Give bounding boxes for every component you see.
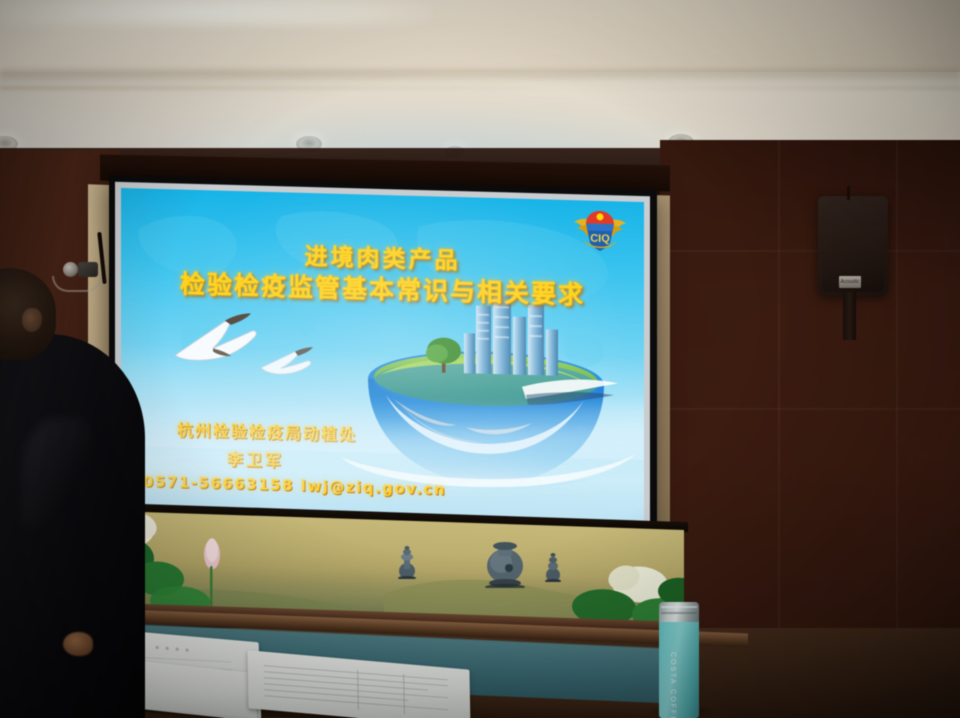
wall-panel-seam — [660, 250, 960, 252]
slide-footer-presenter: 李卫军 — [143, 444, 446, 476]
projection-screen-frame: CIQ 进境肉类产品 检验检疫监管基本常识与相关要求 — [109, 176, 657, 557]
speaker-brand-badge: Acoustic — [839, 276, 861, 288]
decorative-vase — [545, 552, 561, 582]
thermos-flask[interactable]: COSTA COFFEE — [659, 612, 699, 718]
audience-member — [0, 268, 130, 718]
speaker-mount-bracket — [843, 292, 856, 340]
thermos-brand-label: COSTA COFFEE — [669, 652, 676, 718]
ceiling-light-glow — [0, 0, 430, 26]
ciq-emblem: CIQ — [572, 206, 628, 254]
svg-text:CIQ: CIQ — [590, 233, 610, 246]
person-shoulder-highlight — [22, 418, 92, 528]
ceiling-seam-highlight — [0, 86, 960, 90]
seagulls-graphic — [169, 307, 349, 384]
speaker-cable — [847, 186, 850, 200]
wall-panel-seam — [896, 140, 898, 640]
ceiling-seam — [0, 70, 960, 84]
wall-speaker: Acoustic — [818, 196, 888, 296]
slide-footer-block: 杭州检验检疫局动植处 李卫军 0571-56663158 lwj@ziq.gov… — [143, 416, 446, 499]
thermos-cap[interactable] — [659, 602, 699, 622]
decorative-vase — [398, 545, 416, 579]
wall-panel-seam — [778, 140, 780, 640]
wall-panel-seam — [660, 408, 960, 410]
slide-footer-contact: 0571-56663158 lwj@ziq.gov.cn — [143, 473, 446, 499]
person-hand — [63, 632, 93, 656]
decorative-vase — [484, 540, 526, 588]
conference-room-photo: Acoustic — [0, 0, 960, 718]
projected-slide: CIQ 进境肉类产品 检验检疫监管基本常识与相关要求 — [121, 188, 644, 542]
